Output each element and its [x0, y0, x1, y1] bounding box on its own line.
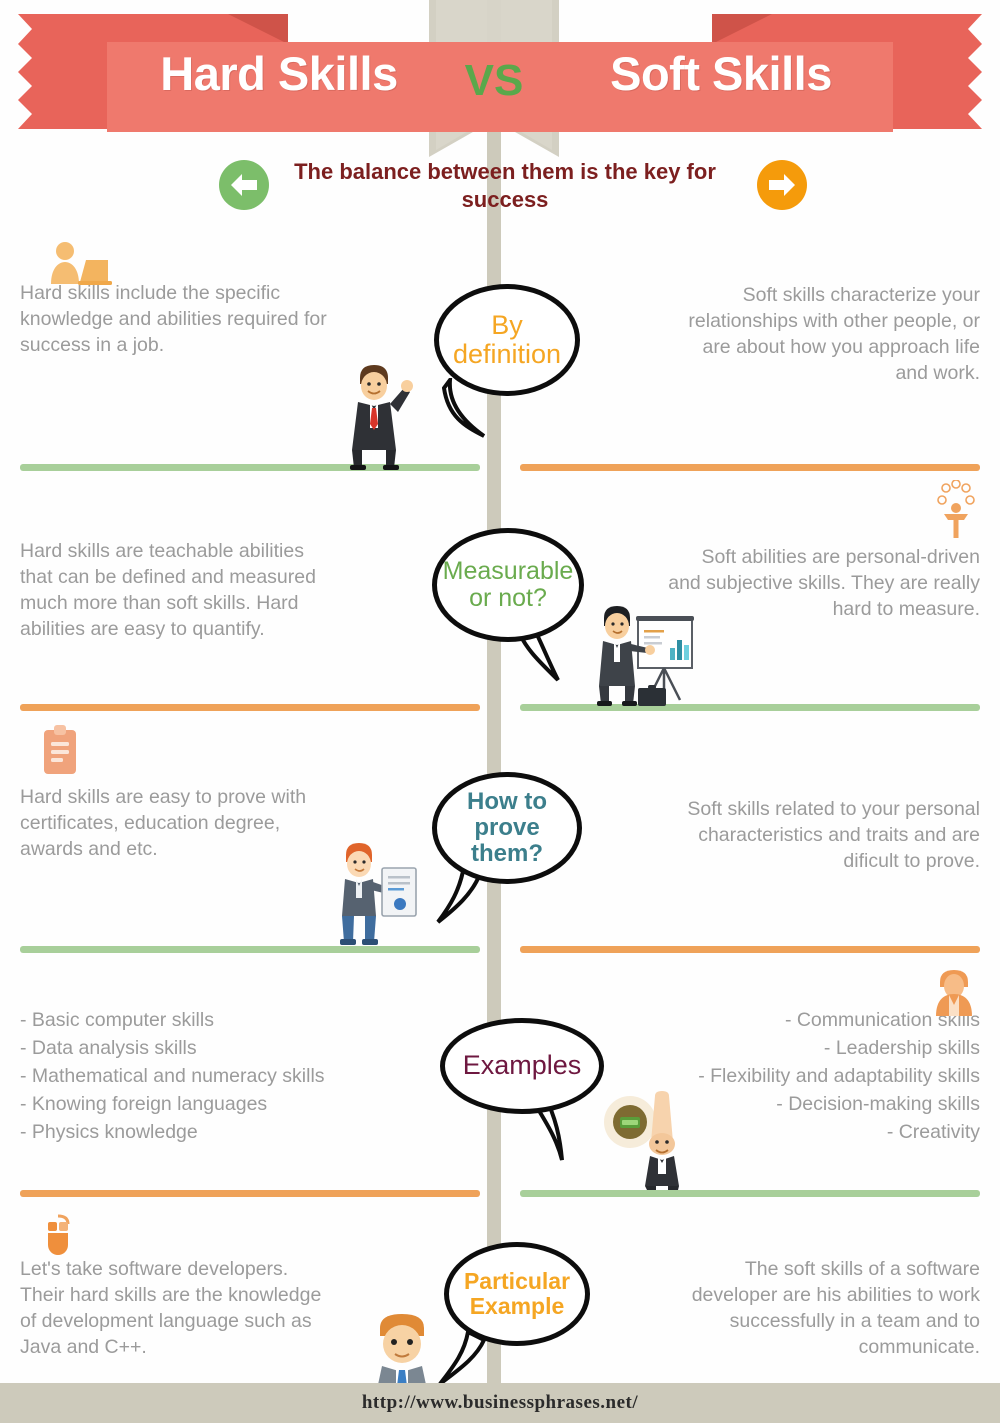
juggler-icon [930, 480, 982, 543]
subtitle-text: The balance between them is the key for … [280, 158, 730, 214]
subtitle-row: The balance between them is the key for … [0, 158, 1000, 226]
bubble-label-3: How to prove them? [437, 789, 577, 867]
bubble-label-1: By definition [453, 311, 561, 369]
arrow-left-icon [219, 160, 269, 210]
right-text-1: Soft skills characterize your relationsh… [560, 282, 980, 386]
left-body-1: Hard skills include the specific knowled… [20, 280, 440, 358]
right-body-3: Soft skills related to your personal cha… [560, 796, 980, 874]
vs-label: VS [429, 50, 559, 112]
left-text-1: Hard skills include the specific knowled… [20, 280, 440, 358]
right-text-5: The soft skills of a software developer … [560, 1256, 980, 1360]
bubble-particular-example: Particular Example [444, 1242, 590, 1346]
right-body-1: Soft skills characterize your relationsh… [560, 282, 980, 386]
arrow-right-icon [757, 160, 807, 210]
bubble-by-definition: By definition [434, 284, 580, 396]
infographic-page: Hard Skills Soft Skills VS The balance b… [0, 0, 1000, 1423]
bubble-how-to-prove: How to prove them? [432, 772, 582, 884]
page-title-soft-skills: Soft Skills [571, 46, 871, 101]
person-at-laptop-icon [38, 240, 114, 291]
bubble-examples: Examples [440, 1018, 604, 1114]
page-title-hard-skills: Hard Skills [129, 46, 429, 101]
user-avatar-icon [930, 966, 978, 1023]
clipboard-icon [40, 724, 80, 781]
character-presenter-chart [586, 600, 696, 715]
divider-right-3 [520, 946, 980, 953]
divider-right-4 [520, 1190, 980, 1197]
left-text-2: Hard skills are teachable abilities that… [20, 538, 440, 642]
character-idea [600, 1090, 710, 1195]
right-body-5: The soft skills of a software developer … [560, 1256, 980, 1360]
footer-url[interactable]: http://www.businessphrases.net/ [362, 1392, 638, 1414]
character-certificate [328, 838, 428, 953]
divider-left-4 [20, 1190, 480, 1197]
footer-bar: http://www.businessphrases.net/ [0, 1383, 1000, 1423]
left-list-4: - Basic computer skills - Data analysis … [20, 1006, 440, 1146]
bubble-label-2: Measurable or not? [443, 558, 574, 612]
character-businessman-pointing [330, 358, 420, 475]
left-body-4: - Basic computer skills - Data analysis … [20, 1006, 440, 1146]
divider-left-2 [20, 704, 480, 711]
bubble-measurable: Measurable or not? [432, 528, 584, 642]
right-text-3: Soft skills related to your personal cha… [560, 796, 980, 874]
bubble-label-4: Examples [463, 1051, 582, 1080]
divider-right-1 [520, 464, 980, 471]
bubble-label-5: Particular Example [464, 1269, 570, 1319]
left-body-2: Hard skills are teachable abilities that… [20, 538, 440, 642]
computer-mouse-icon [38, 1212, 78, 1263]
